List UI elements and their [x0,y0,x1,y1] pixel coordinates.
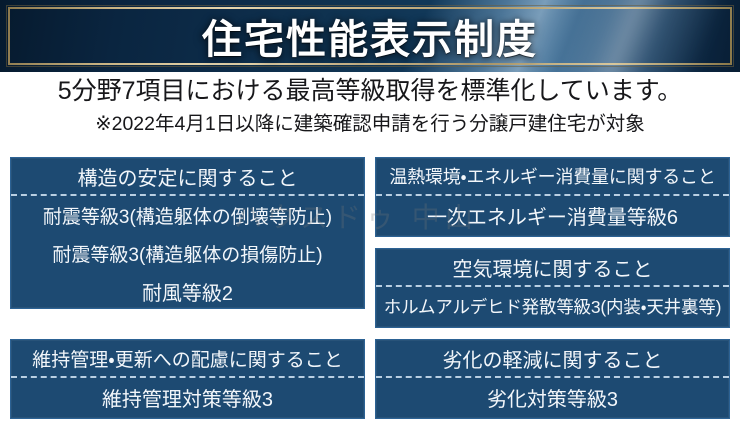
table-item-cell: 維持管理対策等級3 [11,378,364,416]
table-block-air: 空気環境に関すること ホルムアルデヒド発散等級3(内装・天井裏等) [375,248,730,328]
table-block-degradation: 劣化の軽減に関すること 劣化対策等級3 [375,339,730,419]
table-column-right: 温熱環境・エネルギー消費量に関すること 一次エネルギー消費量等級6 空気環境に関… [375,157,730,425]
table-header-cell: 空気環境に関すること [376,249,729,287]
subtitle-note-text: ※2022年4月1日以降に建築確認申請を行う分譲戸建住宅が対象 [0,110,740,138]
table-block-structure: 構造の安定に関すること 耐震等級3(構造躯体の倒壊等防止) 耐震等級3(構造躯体… [10,157,365,309]
table-column-left: 構造の安定に関すること 耐震等級3(構造躯体の倒壊等防止) 耐震等級3(構造躯体… [10,157,365,425]
table-item-cell: 耐震等級3(構造躯体の損傷防止) [11,234,364,272]
table-block-maintenance: 維持管理・更新への配慮に関すること 維持管理対策等級3 [10,339,365,419]
table-item-cell: 耐風等級2 [11,272,364,310]
table-block-thermal: 温熱環境・エネルギー消費量に関すること 一次エネルギー消費量等級6 [375,157,730,237]
page-title: 住宅性能表示制度 [0,0,740,72]
table-header-cell: 温熱環境・エネルギー消費量に関すること [376,158,729,196]
subtitle-main-text: 5分野7項目における最高等級取得を標準化しています。 [0,76,740,107]
table-item-cell: 劣化対策等級3 [376,378,729,416]
table-header-cell: 維持管理・更新への配慮に関すること [11,340,364,378]
table-item-cell: ホルムアルデヒド発散等級3(内装・天井裏等) [376,287,729,325]
table-header-cell: 劣化の軽減に関すること [376,340,729,378]
table-item-cell: 一次エネルギー消費量等級6 [376,196,729,234]
performance-table: 構造の安定に関すること 耐震等級3(構造躯体の倒壊等防止) 耐震等級3(構造躯体… [10,157,730,425]
subtitle-block: 5分野7項目における最高等級取得を標準化しています。 ※2022年4月1日以降に… [0,76,740,138]
table-item-cell: 耐震等級3(構造躯体の倒壊等防止) [11,196,364,234]
table-header-cell: 構造の安定に関すること [11,158,364,196]
title-banner: 住宅性能表示制度 [0,0,740,72]
